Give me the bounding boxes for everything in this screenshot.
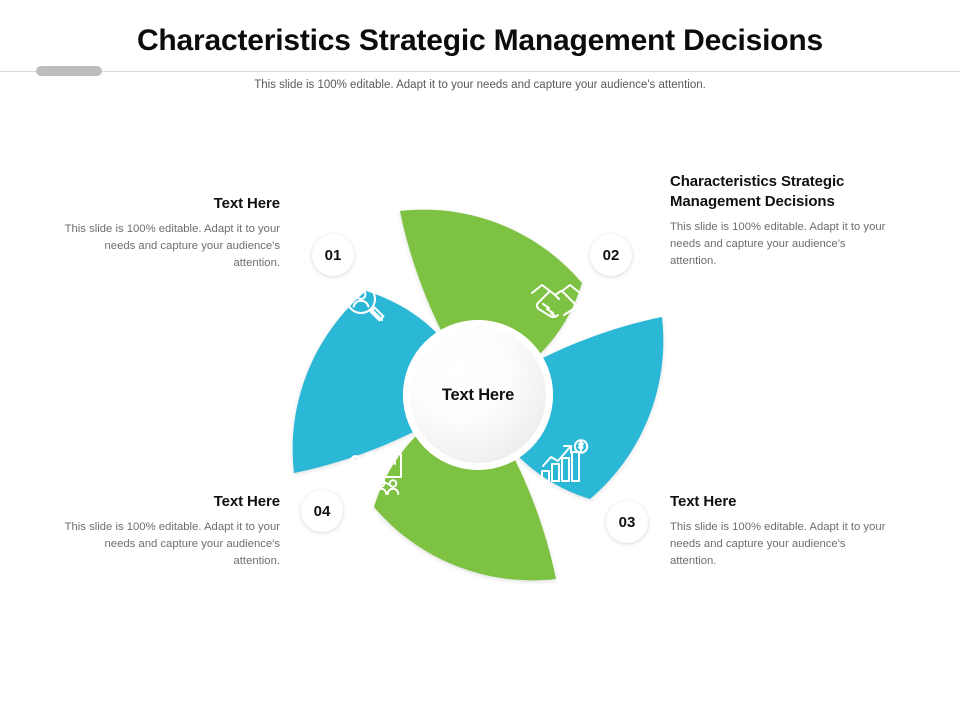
badge-03-label: 03	[619, 514, 636, 531]
badge-02[interactable]: 02	[590, 234, 632, 276]
handshake-icon	[528, 277, 584, 330]
callout-04: Text Here This slide is 100% editable. A…	[58, 492, 280, 570]
slide-canvas: Characteristics Strategic Management Dec…	[0, 0, 960, 720]
callout-02: Characteristics Strategic Management Dec…	[670, 172, 892, 270]
header-accent-pill	[36, 66, 102, 76]
center-hub-label: Text Here	[442, 386, 514, 405]
badge-01-label: 01	[325, 247, 342, 264]
badge-01[interactable]: 01	[312, 234, 354, 276]
callout-01: Text Here This slide is 100% editable. A…	[58, 194, 280, 272]
presentation-training-icon	[347, 450, 403, 503]
user-search-icon	[341, 279, 391, 334]
callout-02-body: This slide is 100% editable. Adapt it to…	[670, 219, 892, 270]
callout-03: Text Here This slide is 100% editable. A…	[670, 492, 892, 570]
header-divider	[0, 71, 960, 72]
callout-04-heading: Text Here	[58, 492, 280, 512]
badge-02-label: 02	[603, 247, 620, 264]
callout-04-body: This slide is 100% editable. Adapt it to…	[58, 519, 280, 570]
callout-03-body: This slide is 100% editable. Adapt it to…	[670, 519, 892, 570]
growth-chart-money-icon	[538, 439, 590, 490]
page-title: Characteristics Strategic Management Dec…	[0, 24, 960, 58]
badge-04[interactable]: 04	[301, 490, 343, 532]
center-hub[interactable]: Text Here	[410, 327, 546, 463]
callout-01-heading: Text Here	[58, 194, 280, 214]
callout-01-body: This slide is 100% editable. Adapt it to…	[58, 221, 280, 272]
badge-04-label: 04	[314, 503, 331, 520]
page-subtitle: This slide is 100% editable. Adapt it to…	[0, 79, 960, 91]
callout-03-heading: Text Here	[670, 492, 892, 512]
badge-03[interactable]: 03	[606, 501, 648, 543]
callout-02-heading: Characteristics Strategic Management Dec…	[670, 172, 892, 212]
